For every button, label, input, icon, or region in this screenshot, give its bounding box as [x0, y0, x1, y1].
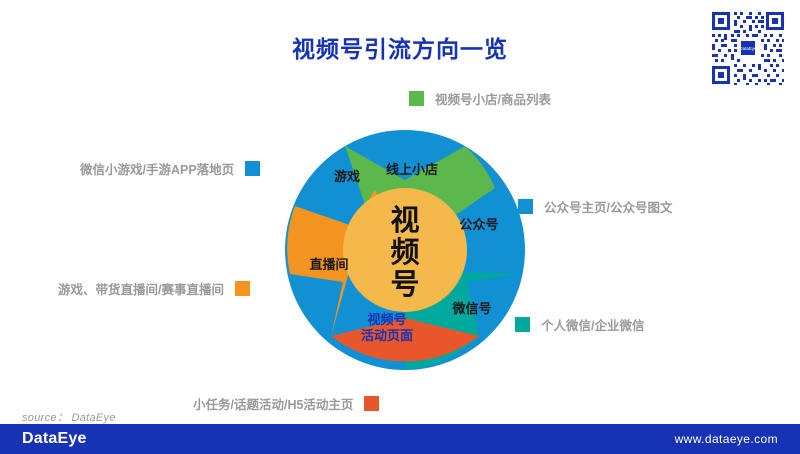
svg-text:DataEye: DataEye [739, 46, 757, 51]
callout-official-account: 公众号主页/公众号图文 [518, 197, 672, 216]
callout-label-online-shop: 视频号小店/商品列表 [435, 89, 551, 108]
wedge-label-live: 直播间 [309, 257, 348, 272]
center-label-line3: 号 [390, 269, 419, 301]
callout-swatch-official-account [518, 199, 533, 214]
callout-online-shop: 视频号小店/商品列表 [409, 89, 551, 108]
callout-label-live-room: 游戏、带货直播间/赛事直播间 [58, 279, 224, 298]
callout-swatch-game [245, 161, 260, 176]
callout-swatch-wechat [515, 317, 530, 332]
callout-swatch-online-shop [409, 91, 424, 106]
radial-diagram: 线上小店 公众号 微信号 视频号 活动页面 直播间 游戏 视 频 号 [283, 128, 527, 372]
wedge-label-game: 游戏 [334, 169, 360, 184]
wedge-label-official: 公众号 [459, 217, 498, 232]
center-label-line1: 视 [390, 204, 419, 237]
callout-task: 小任务/话题活动/H5活动主页 [193, 394, 379, 413]
qr-code-icon[interactable]: DataEye [708, 8, 788, 88]
page-title: 视频号引流方向一览 [0, 30, 800, 64]
wedge-label-activity-l2: 活动页面 [361, 328, 413, 343]
callout-label-task: 小任务/话题活动/H5活动主页 [193, 394, 353, 413]
wedge-label-shop: 线上小店 [386, 162, 438, 177]
center-label-line2: 频 [390, 236, 419, 269]
callout-swatch-live-room [235, 281, 250, 296]
callout-label-game: 微信小游戏/手游APP落地页 [80, 159, 234, 178]
wedge-label-wechat: 微信号 [451, 301, 491, 316]
wedge-label-activity-l1: 视频号 [367, 312, 406, 327]
callout-swatch-task [364, 396, 379, 411]
source-note: source： DataEye [22, 409, 116, 425]
callout-game: 微信小游戏/手游APP落地页 [80, 159, 260, 178]
callout-live-room: 游戏、带货直播间/赛事直播间 [58, 279, 250, 298]
footer-url[interactable]: www.dataeye.com [675, 432, 778, 446]
footer-logo: DataEye [22, 430, 87, 448]
callout-label-wechat: 个人微信/企业微信 [541, 315, 644, 334]
callout-label-official-account: 公众号主页/公众号图文 [544, 197, 672, 216]
callout-wechat: 个人微信/企业微信 [515, 315, 644, 334]
footer-bar: DataEye www.dataeye.com [0, 424, 800, 454]
slide-root: 视频号引流方向一览 [0, 0, 800, 454]
